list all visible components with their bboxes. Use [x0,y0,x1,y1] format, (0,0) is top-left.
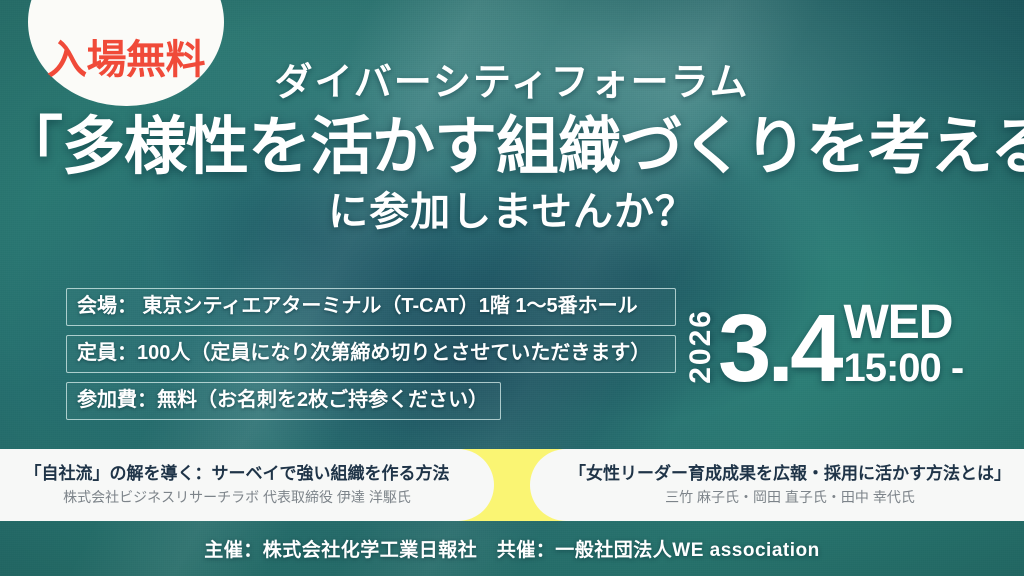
event-date-block: 2026 3.4 WED 15:00 - [686,300,963,390]
session-1-title: 「自社流」の解を導く：サーベイで強い組織を作る方法 [25,464,450,484]
event-title: 「多様性を活かす組織づくりを考える」 [0,110,1024,184]
date-day: 3.4 [718,308,839,391]
info-box-venue: 会場： 東京シティエアターミナル（T-CAT）1階 1〜5番ホール [66,288,676,326]
info-box-fee: 参加費：無料（お名刺を2枚ご持参ください） [66,382,501,420]
organizer-footer: 主催：株式会社化学工業日報社 共催：一般社団法人WE association [0,521,1024,576]
free-admission-label: 入場無料 [47,40,205,80]
event-info-list: 会場： 東京シティエアターミナル（T-CAT）1階 1〜5番ホール 定員：100… [66,288,676,420]
session-2-speaker: 三竹 麻子氏・岡田 直子氏・田中 幸代氏 [665,489,915,506]
date-detail-group: WED 15:00 - [843,300,963,388]
event-poster: 入場無料 ダイバーシティフォーラム 「多様性を活かす組織づくりを考える」 に参加… [0,0,1024,576]
date-start-time: 15:00 - [843,348,963,388]
event-title-tail: に参加しませんか？ [0,188,1024,236]
date-year: 2026 [686,309,716,384]
info-box-capacity: 定員：100人（定員になり次第締め切りとさせていただきます） [66,335,676,373]
organizer-text: 主催：株式会社化学工業日報社 共催：一般社団法人WE association [204,535,819,562]
session-2-title: 「女性リーダー育成成果を広報・採用に活かす方法とは」 [569,464,1011,484]
session-1-speaker: 株式会社ビジネスリサーチラボ 代表取締役 伊達 洋駆氏 [63,489,411,506]
session-panel-2: 「女性リーダー育成成果を広報・採用に活かす方法とは」 三竹 麻子氏・岡田 直子氏… [530,449,1024,521]
date-day-of-week: WED [843,300,963,346]
sessions-band: 「自社流」の解を導く：サーベイで強い組織を作る方法 株式会社ビジネスリサーチラボ… [0,449,1024,521]
session-panel-1: 「自社流」の解を導く：サーベイで強い組織を作る方法 株式会社ビジネスリサーチラボ… [0,449,494,521]
